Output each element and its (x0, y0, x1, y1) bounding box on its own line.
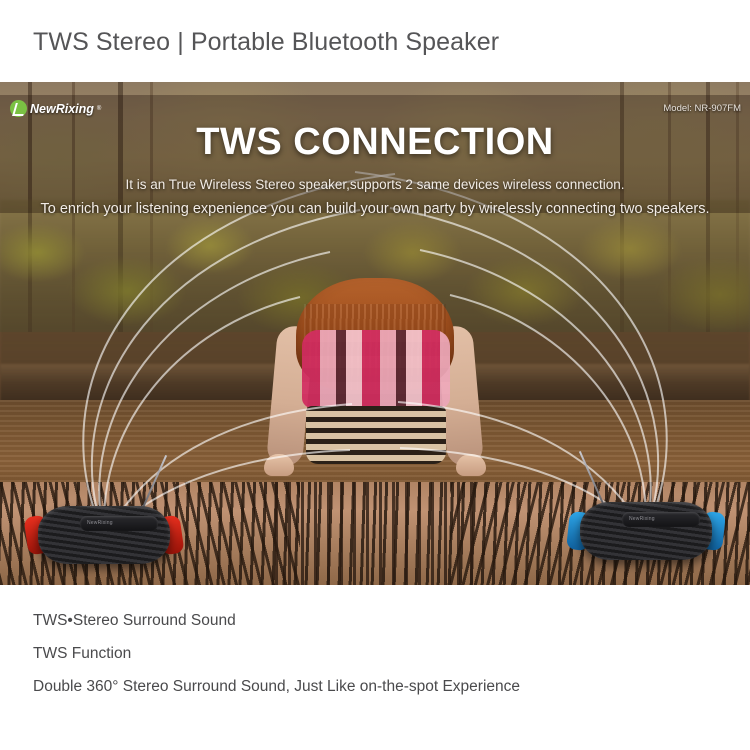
speaker-right-brand-mark: NewRixing (629, 516, 655, 522)
speaker-left-body: NewRixing (38, 506, 170, 564)
banner-text-overlay: NewRixing ® Model: NR-907FM TWS CONNECTI… (0, 95, 750, 213)
speaker-right: NewRixing (566, 496, 726, 566)
model-number: Model: NR-907FM (663, 103, 741, 114)
feature-item: TWS•Stereo Surround Sound (33, 612, 723, 630)
speaker-right-control-panel: NewRixing (622, 512, 700, 527)
feature-list: TWS•Stereo Surround Sound TWS Function D… (33, 612, 723, 711)
product-banner: NewRixing NewRixing NewRixing ® Model: N… (0, 82, 750, 585)
feature-item: Double 360° Stereo Surround Sound, Just … (33, 678, 723, 696)
speaker-left: NewRixing (24, 500, 184, 570)
banner-description-line-2: To enrich your listening expenience you … (0, 201, 750, 217)
page-title: TWS Stereo | Portable Bluetooth Speaker (33, 28, 499, 57)
speaker-right-body: NewRixing (580, 502, 712, 560)
speaker-left-brand-mark: NewRixing (87, 520, 113, 526)
newrixing-leaf-icon (10, 100, 27, 117)
feature-item: TWS Function (33, 645, 723, 663)
banner-headline: TWS CONNECTION (0, 121, 750, 164)
trademark-symbol: ® (97, 106, 101, 112)
banner-description-line-1: It is an True Wireless Stereo speaker,su… (0, 177, 750, 192)
speaker-left-control-panel: NewRixing (80, 516, 158, 531)
brand-name: NewRixing (30, 102, 94, 116)
brand-logo: NewRixing ® (10, 100, 101, 117)
